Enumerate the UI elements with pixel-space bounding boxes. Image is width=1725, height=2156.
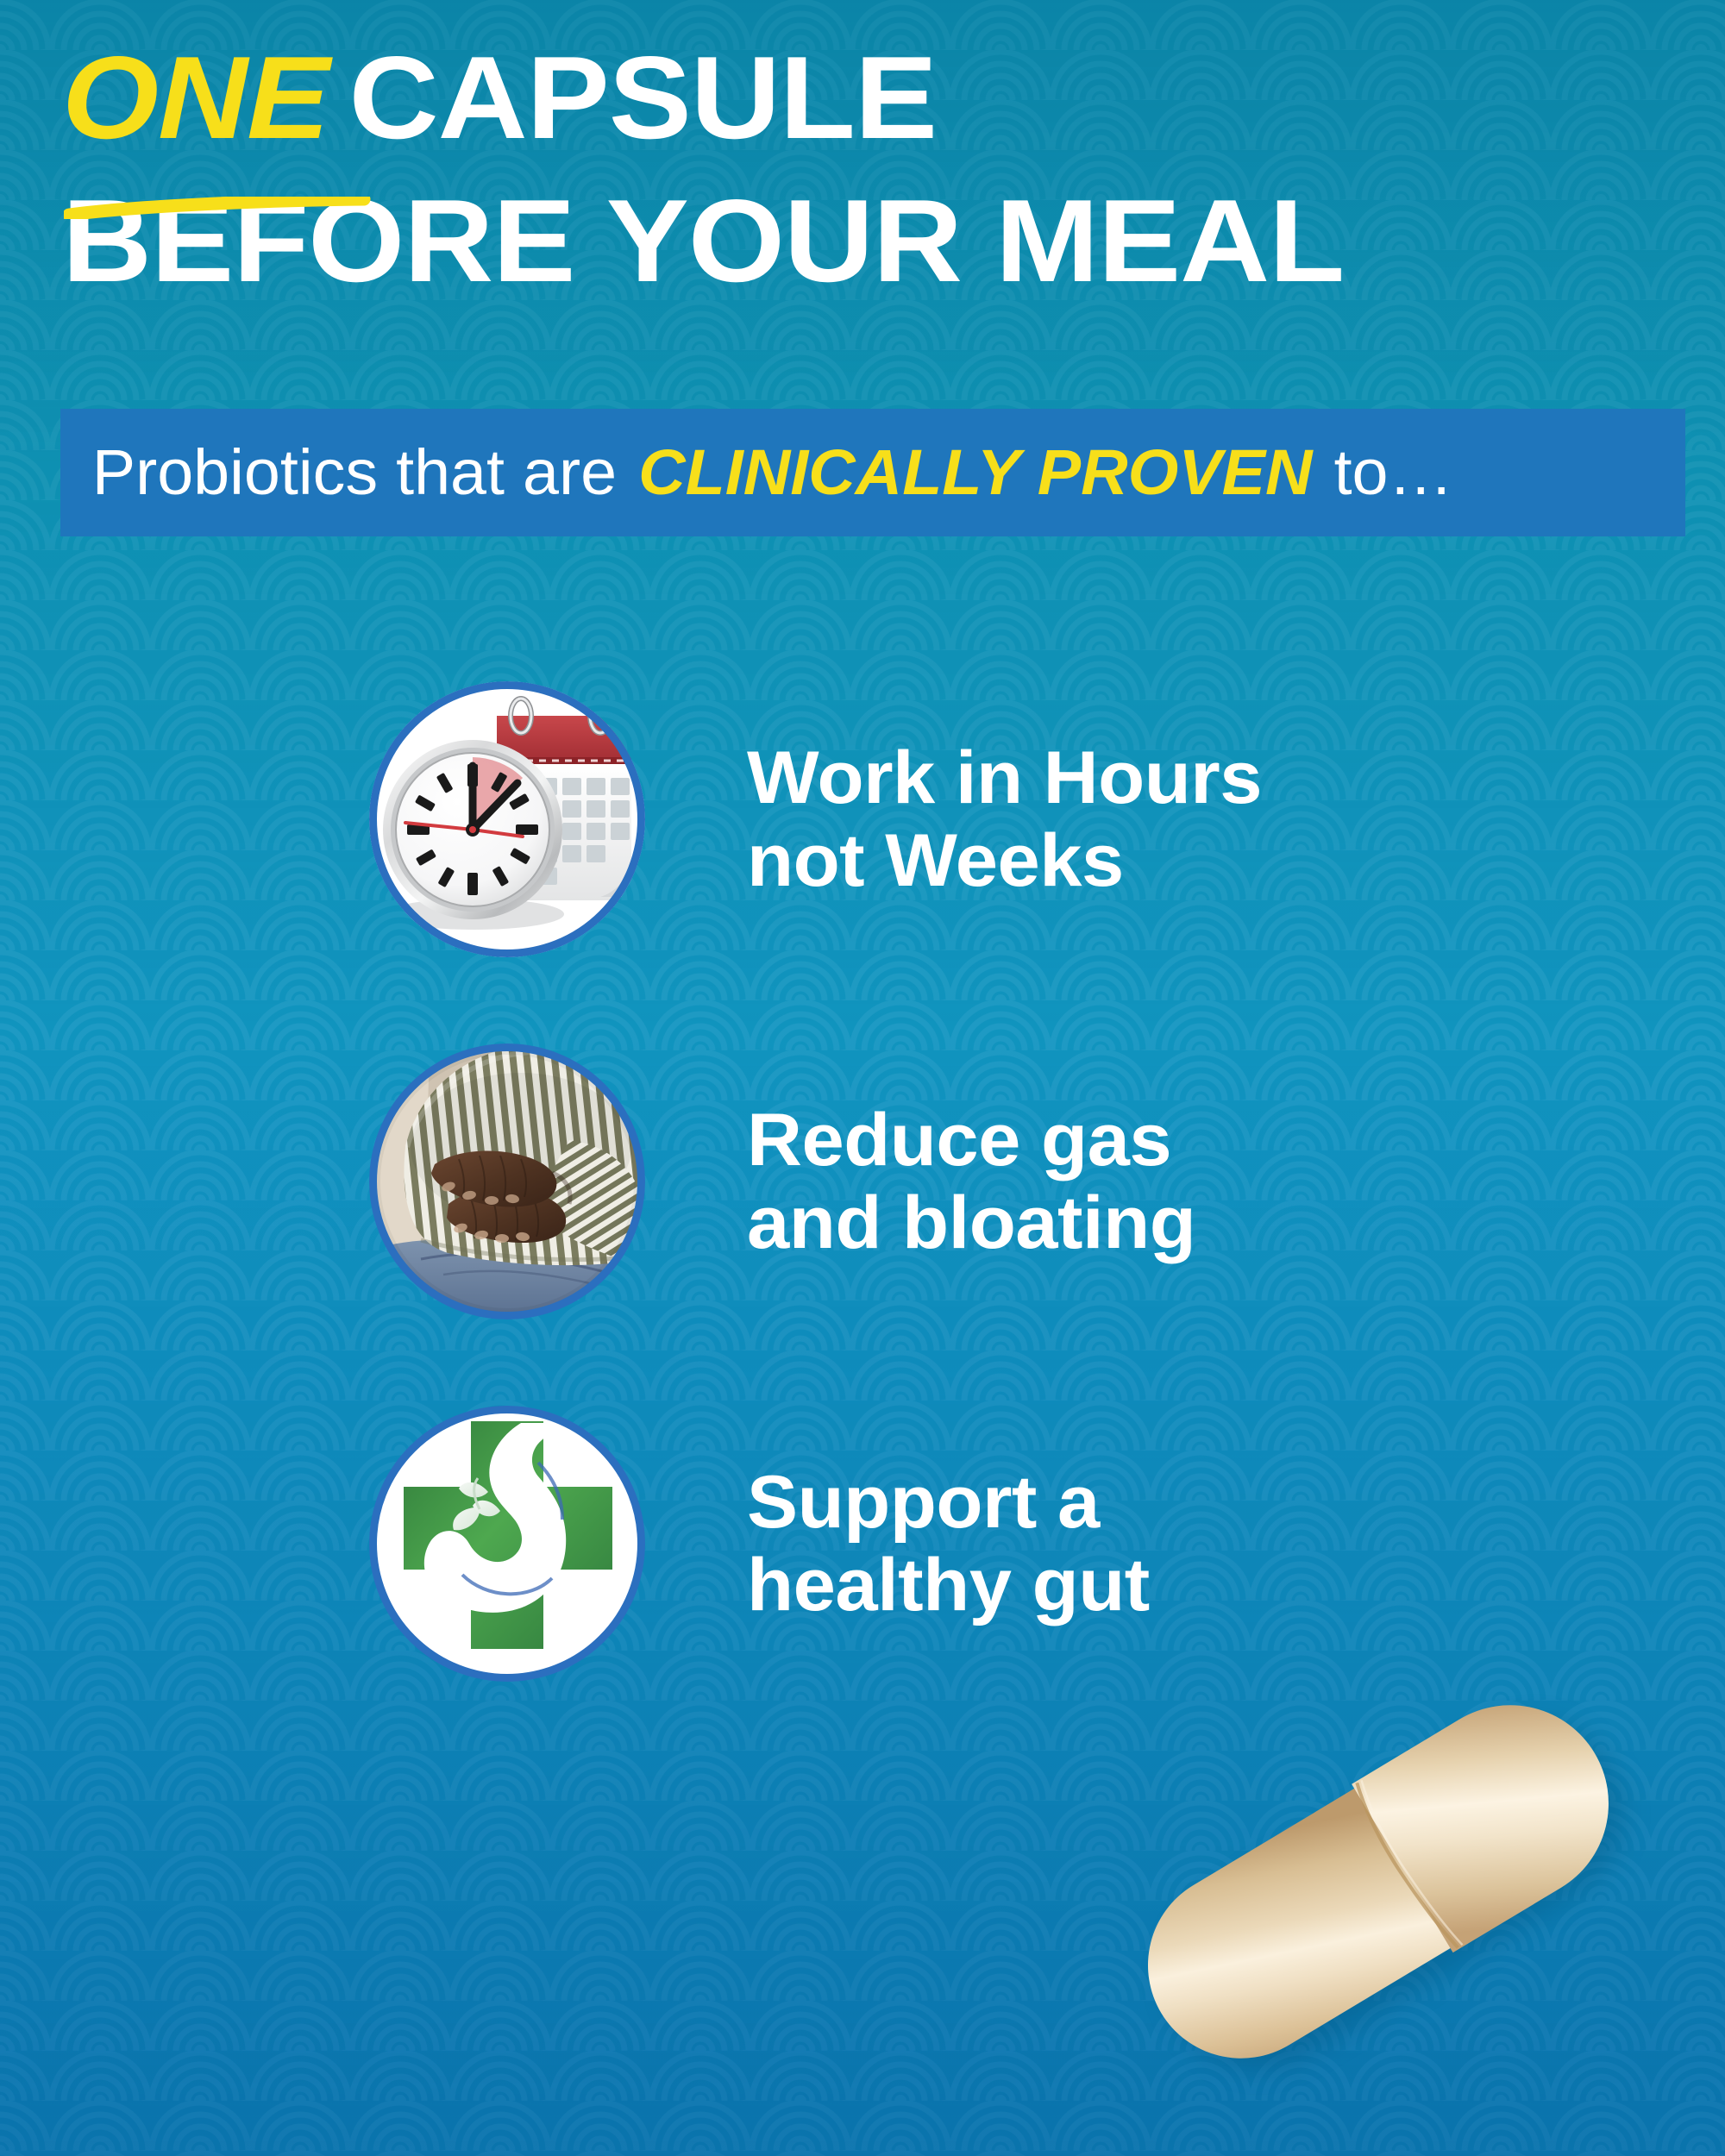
clock-calendar-icon bbox=[369, 681, 645, 957]
feature-label-line-1: Reduce gas bbox=[747, 1099, 1195, 1181]
feature-label-line-2: not Weeks bbox=[747, 819, 1262, 902]
headline-highlight-one: ONE bbox=[62, 32, 349, 163]
feature-label-line-1: Work in Hours bbox=[747, 736, 1262, 819]
subtitle-keyword: CLINICALLY PROVEN bbox=[635, 436, 1316, 508]
list-item: Reduce gas and bloating bbox=[0, 1000, 1725, 1363]
green-cross-stomach-icon bbox=[369, 1406, 645, 1682]
feature-label-line-2: and bloating bbox=[747, 1181, 1195, 1264]
feature-label-line-1: Support a bbox=[747, 1461, 1150, 1544]
subtitle-suffix: to… bbox=[1316, 436, 1453, 508]
headline-line-2: BEFORE YOUR MEAL bbox=[62, 148, 1725, 291]
feature-label: Work in Hours not Weeks bbox=[747, 736, 1262, 902]
poster-root: ONECAPSULE BEFORE YOUR MEAL Probiotics t… bbox=[0, 0, 1725, 2156]
list-item: Work in Hours not Weeks bbox=[0, 638, 1725, 1000]
page-title: ONECAPSULE BEFORE YOUR MEAL bbox=[62, 24, 1684, 291]
subtitle-banner: Probiotics that are CLINICALLY PROVEN to… bbox=[60, 409, 1685, 536]
subtitle-text: Probiotics that are CLINICALLY PROVEN to… bbox=[60, 438, 1453, 507]
feature-label: Reduce gas and bloating bbox=[747, 1099, 1195, 1264]
bloated-stomach-photo bbox=[369, 1044, 645, 1319]
subtitle-prefix: Probiotics that are bbox=[92, 436, 635, 508]
headline-line-1: ONECAPSULE bbox=[62, 24, 1725, 148]
headline-word-capsule: CAPSULE bbox=[349, 32, 937, 163]
probiotic-capsule bbox=[1074, 1643, 1678, 2126]
feature-list: Work in Hours not Weeks bbox=[0, 638, 1725, 1725]
feature-label-line-2: healthy gut bbox=[747, 1544, 1150, 1626]
feature-label: Support a healthy gut bbox=[747, 1461, 1150, 1626]
